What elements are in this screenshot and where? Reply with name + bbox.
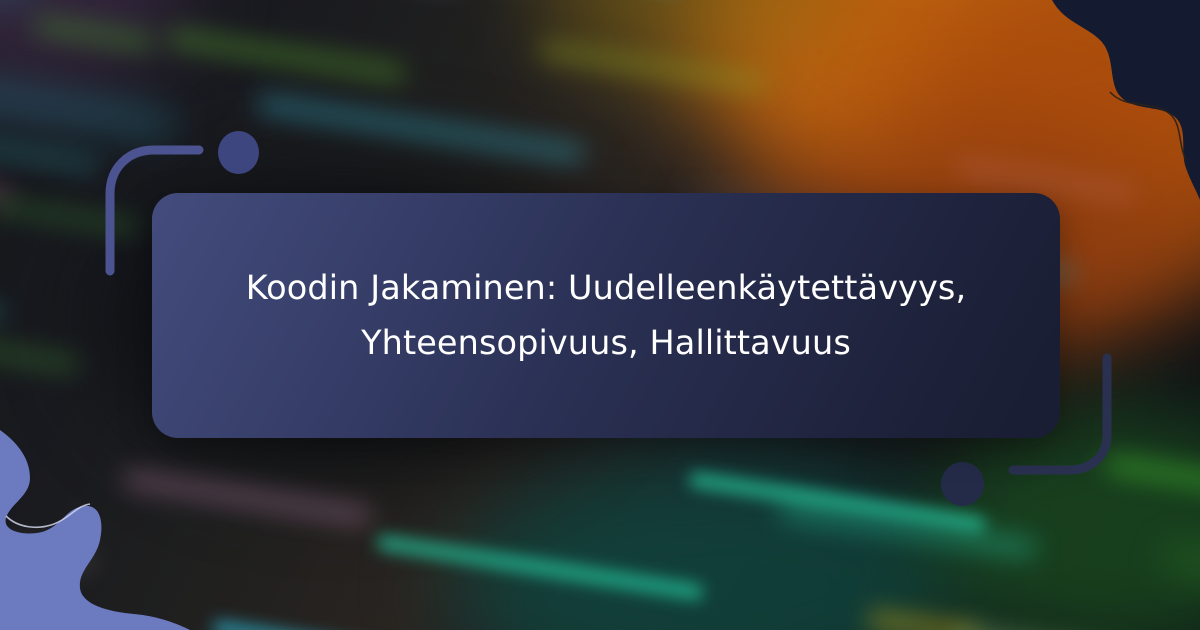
title-card: Koodin Jakaminen: Uudelleenkäytettävyys,… [152, 193, 1060, 438]
social-card-canvas: Koodin Jakaminen: Uudelleenkäytettävyys,… [0, 0, 1200, 630]
page-title: Koodin Jakaminen: Uudelleenkäytettävyys,… [208, 261, 1004, 370]
